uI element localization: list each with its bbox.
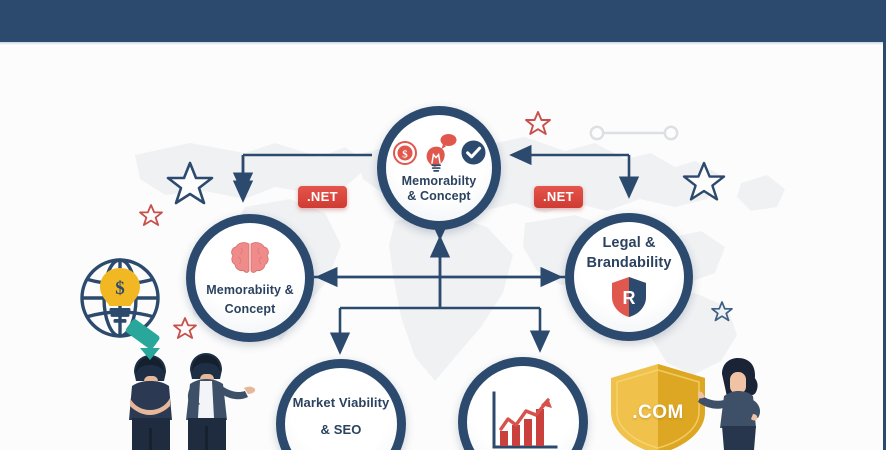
star-navy-large-left (166, 160, 214, 206)
net-badge-left[interactable]: .NET (298, 186, 347, 208)
node-legal-brandability[interactable]: Legal & Brandability R (565, 213, 693, 341)
node-top-label-line2: & Concept (407, 189, 470, 203)
lightbulb-icon (420, 133, 458, 173)
star-red-small-top (524, 110, 552, 137)
star-red-small-left (138, 203, 164, 228)
node-memorability-concept-top[interactable]: $ Memorabilty (377, 106, 501, 230)
svg-text:$: $ (115, 278, 125, 299)
growth-chart-icon (486, 389, 560, 450)
globe-lightbulb-magnifier-icon: $ (72, 256, 180, 354)
banner-shadow (0, 42, 886, 45)
dollar-coin-icon: $ (392, 140, 418, 166)
svg-text:R: R (623, 288, 636, 308)
dumbbell-connector (588, 124, 680, 147)
shield-r-icon: R (609, 275, 649, 319)
node-top-label-line1: Memorabilty (402, 174, 477, 188)
node-bl-label-line2: & SEO (321, 423, 362, 438)
node-bl-label-line1: Market Viability (293, 396, 390, 411)
node-memorability-concept-left[interactable]: Memorabiity & Concept (186, 214, 314, 342)
infographic-canvas: $ Memorabilty (0, 0, 886, 450)
person-woman-illustration (698, 358, 798, 450)
node-left-label-line1: Memorabiity & (206, 283, 293, 297)
node-top-icons: $ (392, 133, 487, 173)
check-circle-icon (460, 139, 487, 166)
node-right-label-line1: Legal & (602, 235, 655, 252)
node-growth-chart[interactable] (458, 357, 588, 450)
top-banner (0, 0, 886, 42)
node-market-viability-seo[interactable]: Market Viability & SEO Potential (276, 359, 406, 450)
brain-icon (229, 240, 271, 278)
net-badge-right[interactable]: .NET (534, 186, 583, 208)
com-shield-label: .COM (605, 402, 711, 424)
node-right-label-line2: Brandability (587, 255, 672, 272)
node-left-label-line2: Concept (225, 302, 276, 316)
com-shield: .COM (605, 362, 711, 450)
people-two-men-illustration (112, 348, 262, 450)
star-navy-large-right (682, 160, 726, 202)
svg-text:$: $ (402, 148, 408, 160)
star-navy-small-right (710, 300, 734, 323)
